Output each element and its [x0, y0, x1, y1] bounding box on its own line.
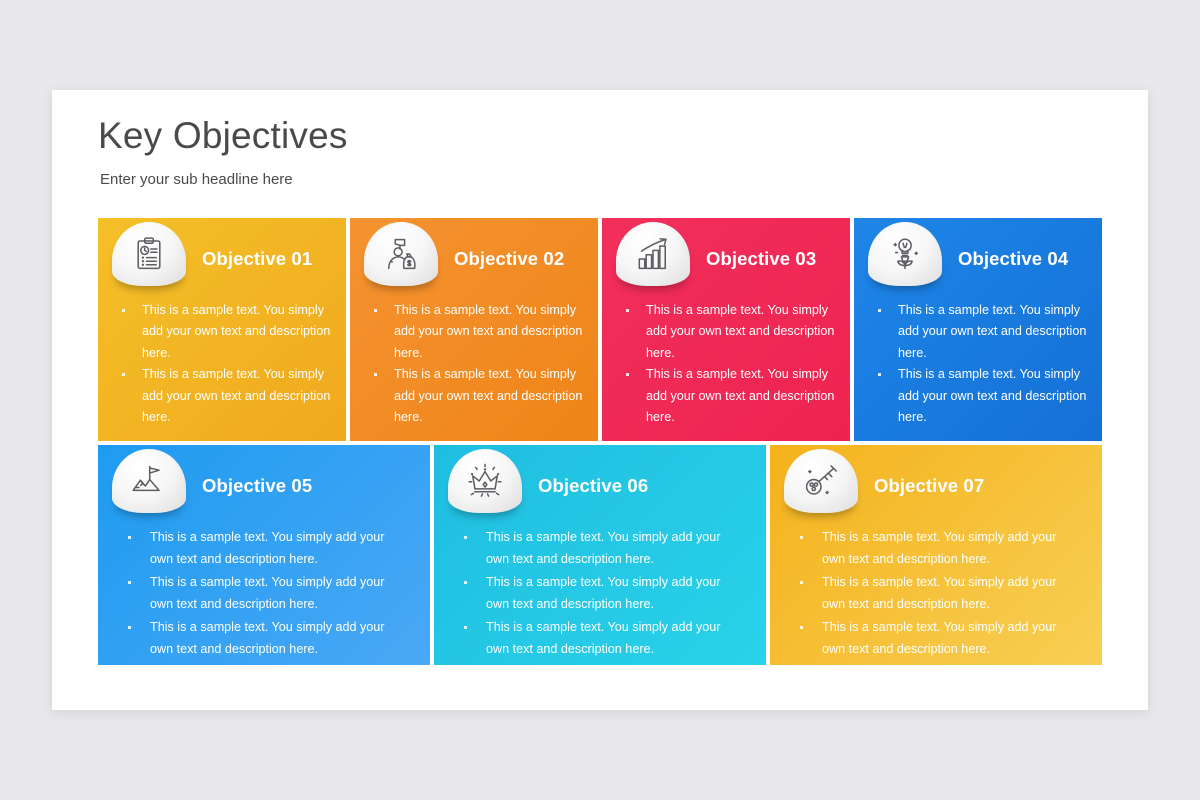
objective-card[interactable]: Objective 05This is a sample text. You s…	[98, 445, 430, 665]
objective-bullet-item: This is a sample text. You simply add yo…	[460, 572, 746, 615]
objective-card-title: Objective 02	[454, 248, 564, 270]
objective-card[interactable]: Objective 02This is a sample text. You s…	[350, 218, 598, 441]
objective-bullet-item: This is a sample text. You simply add yo…	[460, 527, 746, 570]
objective-card-title: Objective 04	[958, 248, 1068, 270]
objective-bullet-list: This is a sample text. You simply add yo…	[120, 300, 332, 428]
page-title: Key Objectives	[98, 116, 348, 157]
objective-bullet-item: This is a sample text. You simply add yo…	[876, 300, 1088, 364]
objective-card-title: Objective 03	[706, 248, 816, 270]
objective-bullet-list: This is a sample text. You simply add yo…	[124, 527, 410, 663]
objective-bullet-item: This is a sample text. You simply add yo…	[624, 364, 836, 428]
objectives-row-top: Objective 01This is a sample text. You s…	[98, 218, 1102, 441]
objective-card-title: Objective 05	[202, 475, 312, 497]
objective-bullet-item: This is a sample text. You simply add yo…	[124, 617, 410, 660]
objective-card[interactable]: Objective 04This is a sample text. You s…	[854, 218, 1102, 441]
objective-bullet-item: This is a sample text. You simply add yo…	[372, 300, 584, 364]
objective-bullet-list: This is a sample text. You simply add yo…	[624, 300, 836, 428]
objective-bullet-item: This is a sample text. You simply add yo…	[124, 527, 410, 570]
objective-card[interactable]: Objective 03This is a sample text. You s…	[602, 218, 850, 441]
page-subtitle: Enter your sub headline here	[100, 171, 348, 188]
slide-header: Key Objectives Enter your sub headline h…	[98, 116, 348, 188]
objectives-grid: Objective 01This is a sample text. You s…	[98, 218, 1102, 665]
key-icon	[803, 463, 839, 499]
objective-icon-badge	[616, 222, 690, 286]
mountain-flag-summit-icon	[131, 463, 167, 499]
slide-canvas: Key Objectives Enter your sub headline h…	[52, 90, 1148, 710]
objective-icon-badge	[784, 449, 858, 513]
objective-bullet-list: This is a sample text. You simply add yo…	[372, 300, 584, 428]
objective-bullet-item: This is a sample text. You simply add yo…	[372, 364, 584, 428]
objective-icon-badge	[112, 222, 186, 286]
objectives-row-bottom: Objective 05This is a sample text. You s…	[98, 445, 1102, 665]
objective-bullet-item: This is a sample text. You simply add yo…	[120, 364, 332, 428]
objective-bullet-item: This is a sample text. You simply add yo…	[796, 617, 1082, 660]
crown-icon	[467, 463, 503, 499]
objective-icon-badge	[112, 449, 186, 513]
objective-bullet-item: This is a sample text. You simply add yo…	[624, 300, 836, 364]
growth-bar-chart-icon	[635, 236, 671, 272]
objective-card-title: Objective 01	[202, 248, 312, 270]
objective-bullet-item: This is a sample text. You simply add yo…	[796, 527, 1082, 570]
objective-icon-badge	[364, 222, 438, 286]
objective-bullet-list: This is a sample text. You simply add yo…	[796, 527, 1082, 663]
objective-bullet-item: This is a sample text. You simply add yo…	[120, 300, 332, 364]
objective-bullet-item: This is a sample text. You simply add yo…	[796, 572, 1082, 615]
clipboard-checklist-icon	[131, 236, 167, 272]
lightbulb-plant-idea-icon	[887, 236, 923, 272]
objective-bullet-item: This is a sample text. You simply add yo…	[876, 364, 1088, 428]
objective-card[interactable]: Objective 01This is a sample text. You s…	[98, 218, 346, 441]
objective-icon-badge	[868, 222, 942, 286]
objective-bullet-item: This is a sample text. You simply add yo…	[460, 617, 746, 660]
objective-card-title: Objective 07	[874, 475, 984, 497]
objective-icon-badge	[448, 449, 522, 513]
objective-card[interactable]: Objective 07This is a sample text. You s…	[770, 445, 1102, 665]
objective-card-title: Objective 06	[538, 475, 648, 497]
objective-bullet-list: This is a sample text. You simply add yo…	[460, 527, 746, 663]
objective-card[interactable]: Objective 06This is a sample text. You s…	[434, 445, 766, 665]
businessman-money-bag-icon	[383, 236, 419, 272]
objective-bullet-list: This is a sample text. You simply add yo…	[876, 300, 1088, 428]
objective-bullet-item: This is a sample text. You simply add yo…	[124, 572, 410, 615]
